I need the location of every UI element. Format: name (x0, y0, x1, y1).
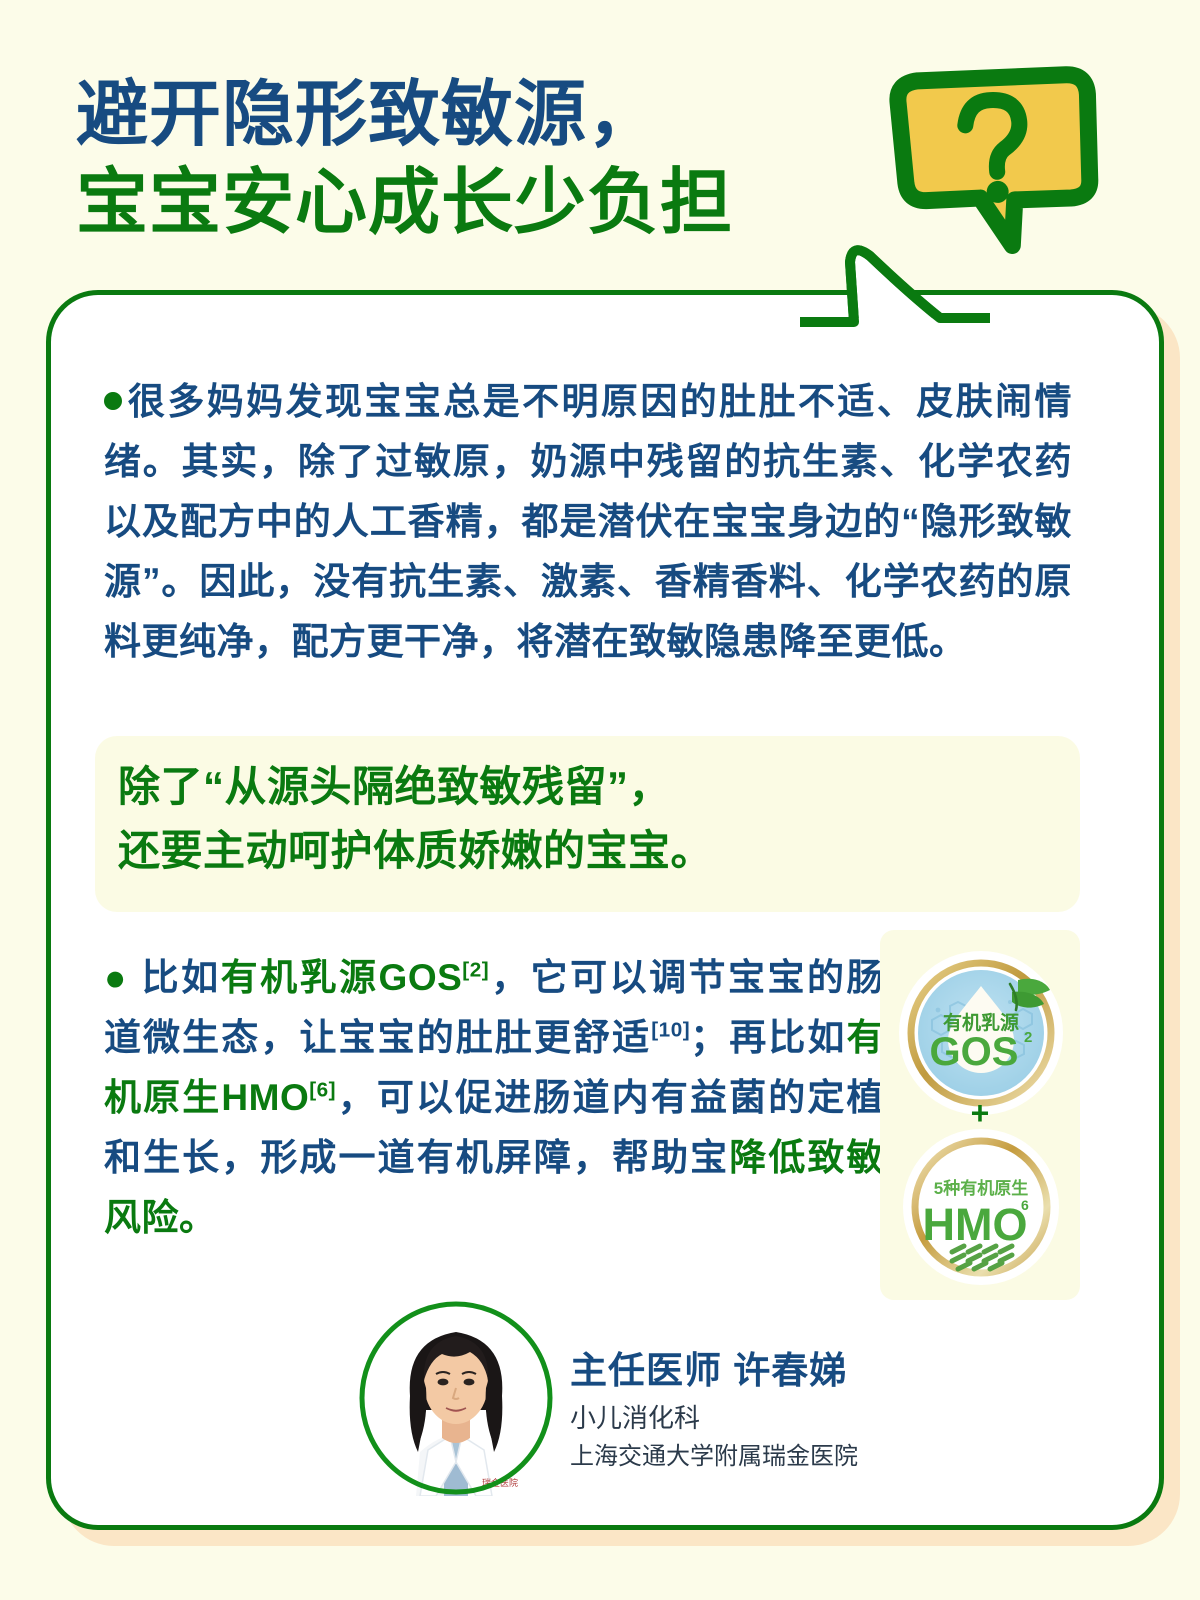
hmo-sub-label: 5种有机原生 (934, 1178, 1028, 1198)
doctor-hospital: 上海交通大学附属瑞金医院 (570, 1440, 858, 1475)
p2-gos-label: 有机乳源GOS (221, 957, 463, 998)
hmo-main-label: HMO (923, 1199, 1028, 1250)
hmo-superscript: 6 (1021, 1197, 1029, 1213)
gos-main-label: GOS (930, 1030, 1019, 1074)
intro-paragraph-text: 很多妈妈发现宝宝总是不明原因的肚肚不适、皮肤闹情绪。其实，除了过敏原，奶源中残留… (104, 381, 1072, 662)
p2-superscript-2: [10] (651, 1019, 690, 1042)
p2-superscript-1: [2] (462, 959, 489, 982)
doctor-name: 主任医师 许春娣 (570, 1348, 858, 1394)
highlight-callout-text: 除了“从源头隔绝致敏残留”， 还要主动呵护体质娇嫩的宝宝。 (118, 755, 1068, 883)
p2-seg-4: ；再比如 (690, 1017, 846, 1058)
question-mark-icon (873, 49, 1118, 275)
avatar: 瑞金医院 (358, 1300, 554, 1496)
intro-paragraph: 很多妈妈发现宝宝总是不明原因的肚肚不适、皮肤闹情绪。其实，除了过敏原，奶源中残留… (104, 372, 1072, 672)
doctor-info: 主任医师 许春娣 小儿消化科 上海交通大学附属瑞金医院 (570, 1348, 858, 1475)
title-line-primary: 避开隐形致敏源， (76, 72, 866, 160)
benefits-paragraph: ● 比如有机乳源GOS[2]，它可以调节宝宝的肠道微生态，让宝宝的肚肚更舒适[1… (104, 948, 884, 1248)
hmo-badge-icon: 5种有机原生 HMO 6 (902, 1128, 1060, 1286)
bullet-icon (104, 392, 122, 410)
page-title: 避开隐形致敏源， 宝宝安心成长少负担 (76, 72, 866, 248)
gos-badge-icon: 有机乳源 GOS 2 (898, 950, 1064, 1116)
bullet-icon-2: ● (104, 957, 129, 998)
title-line-secondary: 宝宝安心成长少负担 (76, 160, 866, 248)
p2-seg-1: 比如 (129, 957, 221, 998)
doctor-department: 小儿消化科 (570, 1400, 858, 1438)
highlight-line-1: 除了“从源头隔绝致敏残留”， (118, 755, 1068, 819)
highlight-line-2: 还要主动呵护体质娇嫩的宝宝。 (118, 819, 1068, 883)
gos-superscript: 2 (1024, 1029, 1032, 1046)
plus-icon: + (960, 1096, 1000, 1130)
p2-superscript-3: [6] (309, 1079, 336, 1102)
